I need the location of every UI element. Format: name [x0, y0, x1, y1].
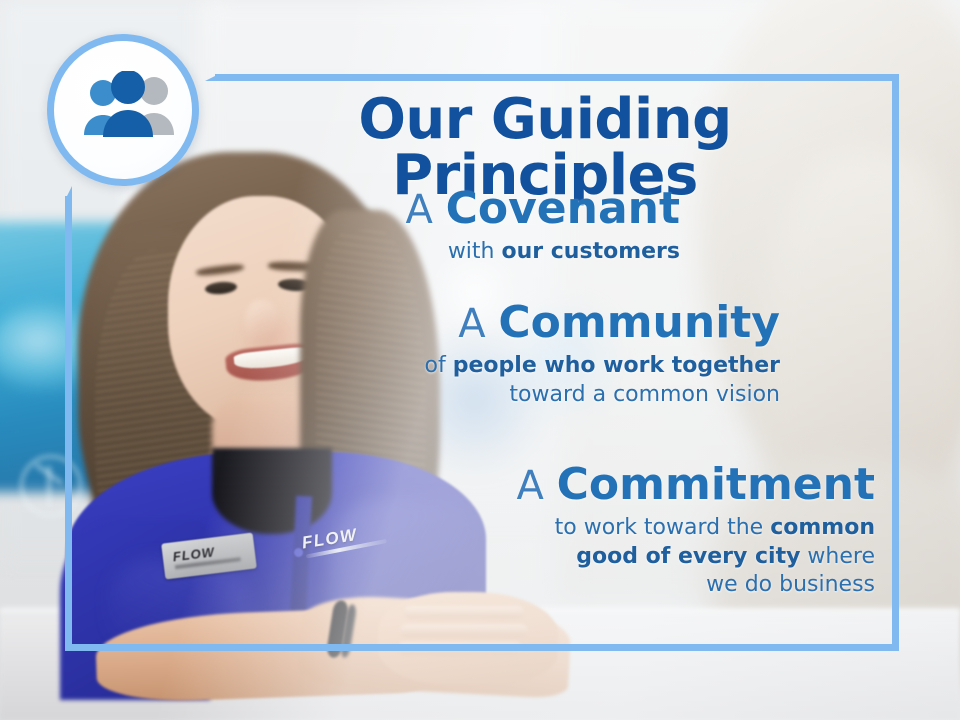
plain-text: with: [448, 239, 502, 264]
plain-text: we do business: [706, 572, 875, 597]
principle-keyword: Community: [498, 297, 780, 348]
principle-subtitle-line: we do business: [380, 571, 875, 600]
emphasis-text: our customers: [501, 239, 680, 264]
principle-title: A Covenant: [300, 186, 680, 232]
principle-subtitle: with our customers: [300, 238, 680, 267]
principle-subtitle: to work toward the commongood of every c…: [380, 514, 875, 600]
principle-subtitle-line: good of every city where: [380, 543, 875, 572]
principle-subtitle-line: to work toward the common: [380, 514, 875, 543]
principle-title: A Commitment: [380, 462, 875, 508]
principle-community: A Community of people who work togethert…: [330, 300, 780, 409]
emphasis-text: good of every city: [576, 544, 800, 569]
principle-keyword: Covenant: [446, 183, 680, 234]
principle-subtitle-line: toward a common vision: [330, 381, 780, 410]
emphasis-text: people who work together: [453, 353, 780, 378]
plain-text: of: [425, 353, 453, 378]
plain-text: where: [800, 544, 875, 569]
principle-title: A Community: [330, 300, 780, 346]
principle-commitment: A Commitment to work toward the commongo…: [380, 462, 875, 600]
principle-subtitle-line: of people who work together: [330, 352, 780, 381]
promotional-graphic: FLOW FLOW: [0, 0, 960, 720]
principle-covenant: A Covenant with our customers: [300, 186, 680, 267]
text-content: Our Guiding Principles A Covenant with o…: [0, 0, 960, 720]
emphasis-text: common: [770, 515, 875, 540]
principle-lead-article: A: [406, 187, 446, 233]
principle-keyword: Commitment: [557, 459, 875, 510]
principle-subtitle: of people who work togethertoward a comm…: [330, 352, 780, 409]
principle-lead-article: A: [517, 463, 557, 509]
plain-text: toward a common vision: [509, 382, 780, 407]
plain-text: to work toward the: [555, 515, 771, 540]
principle-lead-article: A: [458, 301, 498, 347]
principle-subtitle-line: with our customers: [300, 238, 680, 267]
